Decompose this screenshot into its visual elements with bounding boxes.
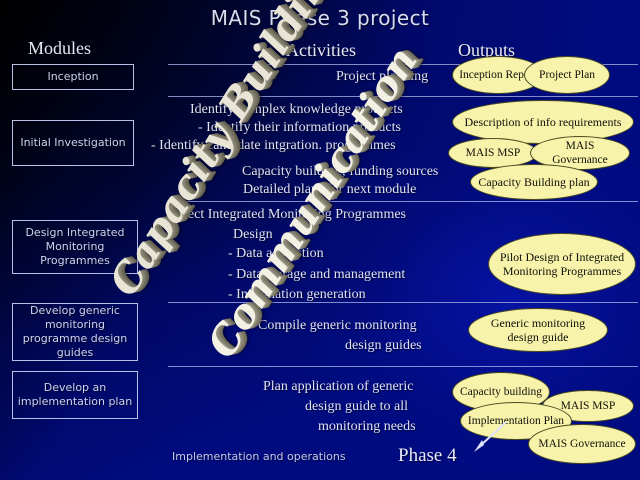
output-label: Project Plan (539, 68, 595, 82)
output-label: Description of info requirements (465, 115, 622, 129)
activity-line: Select Integrated Monitoring Programmes (170, 206, 406, 223)
footer-implementation-text: Implementation and operations (172, 450, 346, 463)
activity-line: - Data acquistion (228, 245, 324, 262)
activity-line: Detailed plans for next module (243, 181, 416, 198)
module-label: Inception (47, 70, 98, 84)
column-header-activities: Activities (286, 40, 356, 61)
output-oval-pilot-design[interactable]: Pilot Design of Integrated Monitoring Pr… (488, 233, 636, 295)
output-label: MAIS Governance (537, 139, 623, 167)
activity-line: design guides (345, 337, 422, 354)
module-box-initial-investigation[interactable]: Initial Investigation (12, 120, 134, 166)
module-box-develop-generic-monitoring-guides[interactable]: Develop generic monitoring programme des… (12, 303, 138, 361)
module-label: Initial Investigation (20, 136, 125, 150)
activity-line: Project planning (336, 68, 428, 85)
activity-line: Design (233, 226, 273, 243)
arrow-to-phase4-icon (470, 418, 510, 454)
activity-line: monitoring needs (318, 418, 416, 435)
module-box-inception[interactable]: Inception (12, 64, 134, 90)
activity-line: - Identify their information products (198, 119, 401, 136)
output-label: Capacity building (460, 385, 542, 399)
module-label: Develop an implementation plan (17, 381, 133, 409)
row-separator (168, 96, 638, 97)
output-label: Pilot Design of Integrated Monitoring Pr… (495, 250, 629, 278)
activity-line: Identify complex knowledge products (190, 101, 403, 118)
row-separator (168, 201, 638, 202)
activity-line: - Information generation (228, 286, 366, 303)
module-label: Develop generic monitoring programme des… (17, 304, 133, 360)
output-label: MAIS Governance (538, 437, 625, 451)
output-oval-generic-monitoring-design-guide[interactable]: Generic monitoring design guide (468, 308, 608, 352)
output-oval-capacity-building-plan[interactable]: Capacity Building plan (470, 164, 598, 200)
output-label: Generic monitoring design guide (475, 316, 601, 344)
page-title: MAIS Phase 3 project (0, 6, 640, 30)
activity-line: Capacity building; funding sources (242, 163, 438, 180)
output-oval-project-plan[interactable]: Project Plan (524, 56, 610, 94)
column-header-modules: Modules (28, 38, 91, 59)
row-separator (168, 366, 638, 367)
output-oval-description-of-info-requirements[interactable]: Description of info requirements (452, 100, 634, 144)
output-oval-mais-governance-2[interactable]: MAIS Governance (528, 424, 636, 464)
activity-line: Compile generic monitoring (258, 317, 417, 334)
module-box-develop-implementation-plan[interactable]: Develop an implementation plan (12, 371, 138, 419)
module-box-design-integrated-monitoring-programmes[interactable]: Design Integrated Monitoring Programmes (12, 220, 138, 274)
activity-line: - Data storage and management (228, 266, 405, 283)
activity-line: - Identify candidate intgration. program… (151, 137, 396, 154)
activity-line: design guide to all (305, 398, 408, 415)
footer-phase-label: Phase 4 (398, 445, 457, 467)
output-label: Capacity Building plan (478, 175, 589, 189)
output-label: MAIS MSP (466, 146, 521, 160)
activity-line: Plan application of generic (263, 378, 413, 395)
slide-canvas: MAIS Phase 3 project Modules Activities … (0, 0, 640, 480)
output-label: MAIS MSP (561, 399, 616, 413)
module-label: Design Integrated Monitoring Programmes (17, 226, 133, 268)
